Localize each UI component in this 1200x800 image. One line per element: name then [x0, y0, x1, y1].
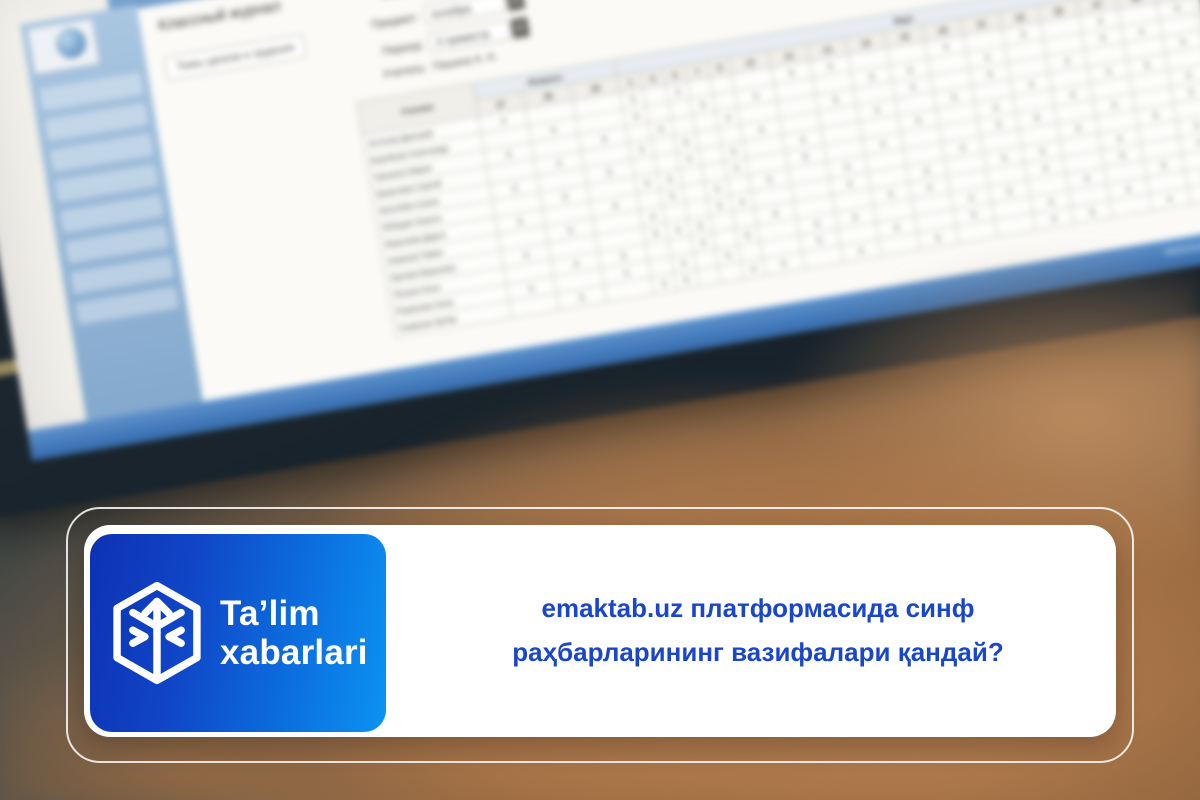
brand-name: Ta’lim xabarlari — [220, 594, 368, 672]
brand-name-line-2: xabarlari — [220, 633, 368, 672]
headline-line-2: раҳбарларининг вазифалари қандай? — [512, 638, 1003, 668]
cube-hexagon-icon — [110, 581, 204, 685]
headline-line-1: emaktab.uz платформасида синф — [542, 594, 975, 624]
headline-block: emaktab.uz платформасида синф раҳбарлари… — [400, 525, 1116, 737]
brand-name-line-1: Ta’lim — [220, 594, 368, 633]
brand-logo-tile[interactable]: Ta’lim xabarlari — [90, 534, 386, 732]
